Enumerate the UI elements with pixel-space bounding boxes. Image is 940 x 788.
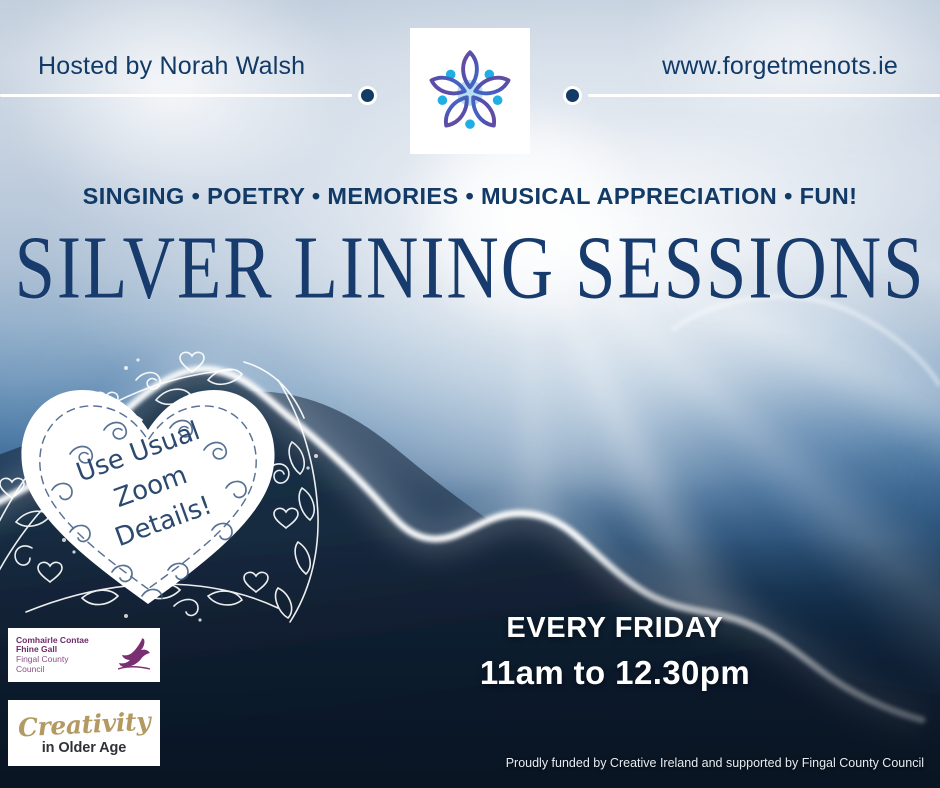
- kicker-line: SINGING • POETRY • MEMORIES • MUSICAL AP…: [0, 183, 940, 210]
- schedule-time: 11am to 12.30pm: [330, 654, 900, 692]
- header-rule-right: [588, 94, 940, 97]
- header-dot-right: [563, 86, 582, 105]
- poster-root: Hosted by Norah Walsh www.forgetmenots.i…: [0, 0, 940, 788]
- fingal-english-line-2: Council: [16, 665, 110, 675]
- host-label: Hosted by Norah Walsh: [38, 52, 305, 81]
- forget-me-not-flower-logo: [410, 28, 530, 154]
- funding-credit: Proudly funded by Creative Ireland and s…: [506, 756, 924, 770]
- schedule-block: EVERY FRIDAY 11am to 12.30pm: [330, 612, 900, 692]
- creativity-subtitle: in Older Age: [42, 740, 126, 756]
- header-rule-left: [0, 94, 352, 97]
- header-bar: Hosted by Norah Walsh www.forgetmenots.i…: [0, 0, 940, 160]
- schedule-day: EVERY FRIDAY: [330, 612, 900, 645]
- fingal-eagle-icon: [114, 635, 154, 675]
- creativity-in-older-age-logo: Creativity in Older Age: [8, 700, 160, 766]
- website-link[interactable]: www.forgetmenots.ie: [662, 52, 898, 81]
- header-dot-left: [358, 86, 377, 105]
- creativity-script-text: Creativity: [17, 707, 151, 743]
- page-title: SILVER LINING SESSIONS: [9, 223, 930, 313]
- fingal-county-council-logo: Comhairle Contae Fhine Gall Fingal Count…: [8, 628, 160, 682]
- fingal-logo-text: Comhairle Contae Fhine Gall Fingal Count…: [16, 636, 110, 674]
